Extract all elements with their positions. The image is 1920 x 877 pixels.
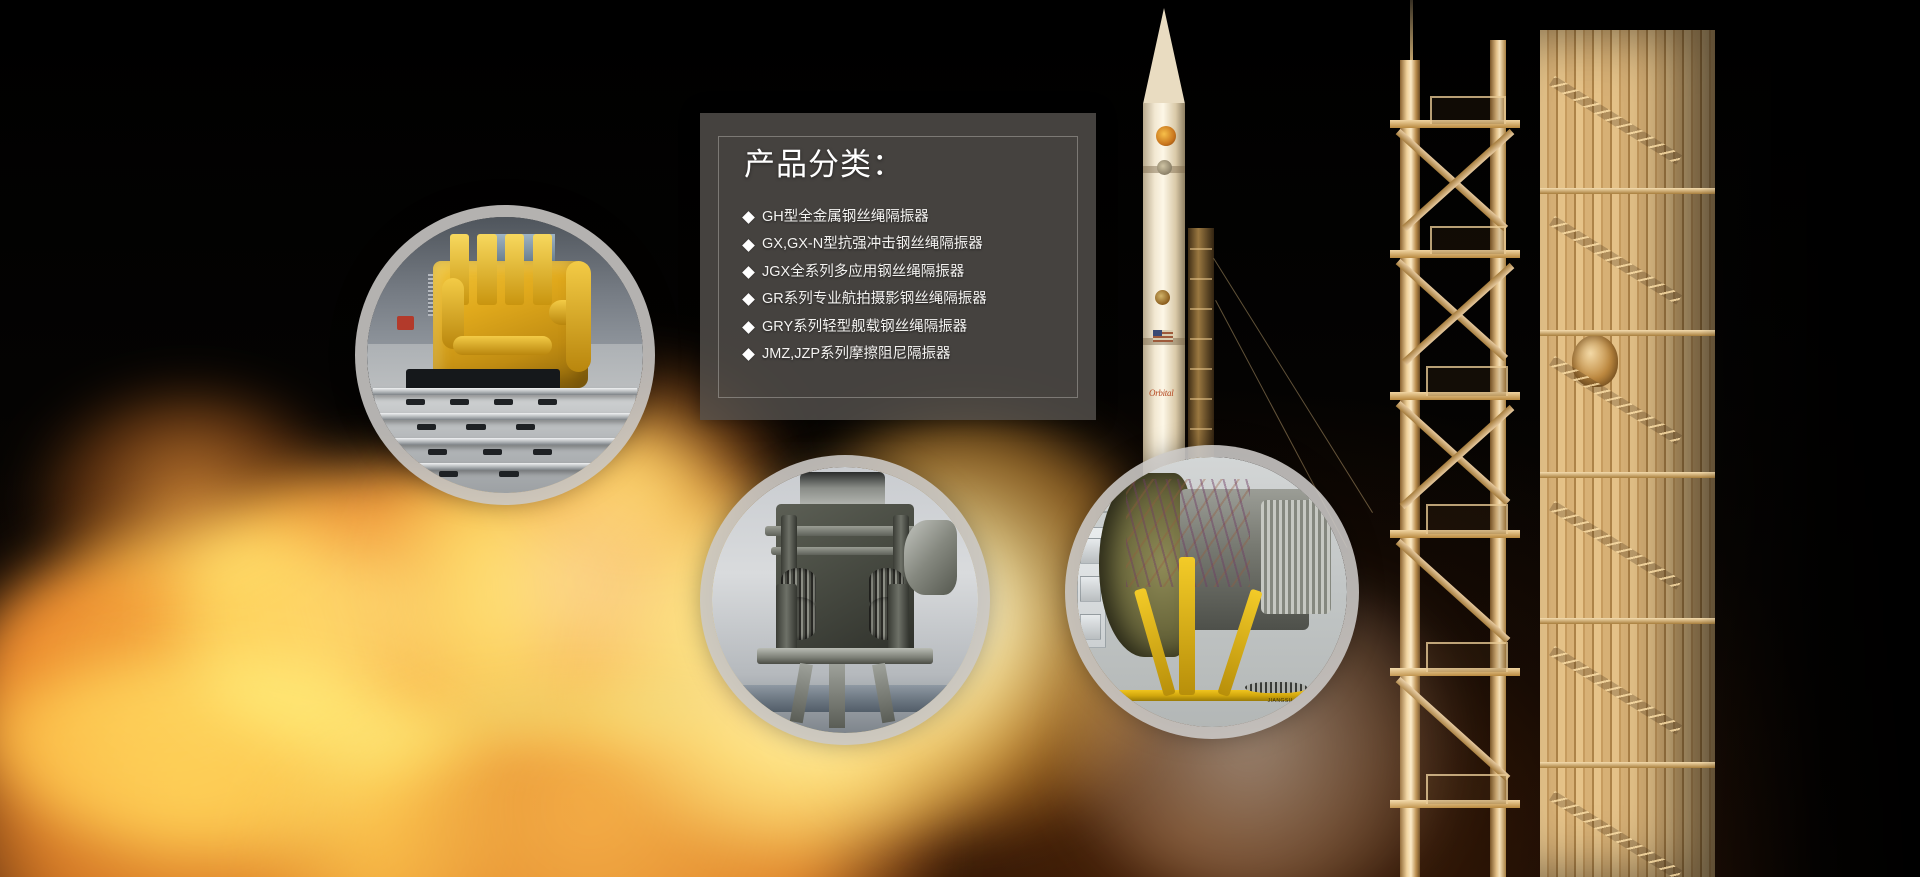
launch-tower xyxy=(1340,0,1760,877)
tower-railing xyxy=(1430,96,1506,124)
nasa-insignia-icon xyxy=(1156,126,1176,146)
tower-platform xyxy=(1540,472,1715,478)
tower-secondary-mast xyxy=(1490,40,1506,877)
list-item-label: GX,GX-N型抗强冲击钢丝绳隔振器 xyxy=(762,236,983,253)
photo-jet-engine-transport-cradle[interactable]: JIANGSU xyxy=(1077,457,1347,727)
list-item-label: GRY系列轻型舰载钢丝绳隔振器 xyxy=(762,319,967,336)
rocket-wordmark: Orbital xyxy=(1149,388,1173,398)
list-item-label: JMZ,JZP系列摩擦阻尼隔振器 xyxy=(762,346,951,363)
diamond-bullet-icon xyxy=(742,239,755,252)
tower-railing xyxy=(1430,226,1506,254)
us-flag-icon xyxy=(1153,330,1173,342)
product-category-panel: 产品分类： GH型全金属钢丝绳隔振器 GX,GX-N型抗强冲击钢丝绳隔振器 JG… xyxy=(700,113,1096,420)
list-item-label: GR系列专业航拍摄影钢丝绳隔振器 xyxy=(762,291,987,308)
banner-stage: Orbital xyxy=(0,0,1920,877)
tower-platform xyxy=(1540,188,1715,194)
list-item[interactable]: GH型全金属钢丝绳隔振器 xyxy=(744,209,1070,226)
tower-platform xyxy=(1540,618,1715,624)
list-item-label: GH型全金属钢丝绳隔振器 xyxy=(762,209,929,226)
diamond-bullet-icon xyxy=(742,293,755,306)
tower-platform xyxy=(1540,330,1715,336)
photo-wire-rope-isolator-mount[interactable] xyxy=(712,467,978,733)
rocket-nose-cone xyxy=(1143,8,1185,104)
tower-service-structure xyxy=(1540,30,1715,877)
diamond-bullet-icon xyxy=(742,348,755,361)
diamond-bullet-icon xyxy=(742,321,755,334)
mission-patch-icon xyxy=(1157,160,1172,175)
tower-railing xyxy=(1426,366,1508,396)
diamond-bullet-icon xyxy=(742,211,755,224)
product-category-list: GH型全金属钢丝绳隔振器 GX,GX-N型抗强冲击钢丝绳隔振器 JGX全系列多应… xyxy=(744,209,1070,373)
tower-railing xyxy=(1426,642,1508,672)
tower-railing xyxy=(1426,504,1508,534)
tower-platform xyxy=(1540,762,1715,768)
list-item[interactable]: JMZ,JZP系列摩擦阻尼隔振器 xyxy=(744,346,1070,363)
mission-patch-icon xyxy=(1155,290,1170,305)
list-item[interactable]: GRY系列轻型舰载钢丝绳隔振器 xyxy=(744,319,1070,336)
list-item[interactable]: JGX全系列多应用钢丝绳隔振器 xyxy=(744,264,1070,281)
list-item-label: JGX全系列多应用钢丝绳隔振器 xyxy=(762,264,964,281)
photo-diesel-generator-set[interactable] xyxy=(367,217,643,493)
tower-main-mast xyxy=(1400,60,1420,877)
list-item[interactable]: GR系列专业航拍摄影钢丝绳隔振器 xyxy=(744,291,1070,308)
panel-title: 产品分类： xyxy=(744,147,904,183)
diamond-bullet-icon xyxy=(742,266,755,279)
tower-railing xyxy=(1426,774,1508,804)
list-item[interactable]: GX,GX-N型抗强冲击钢丝绳隔振器 xyxy=(744,236,1070,253)
